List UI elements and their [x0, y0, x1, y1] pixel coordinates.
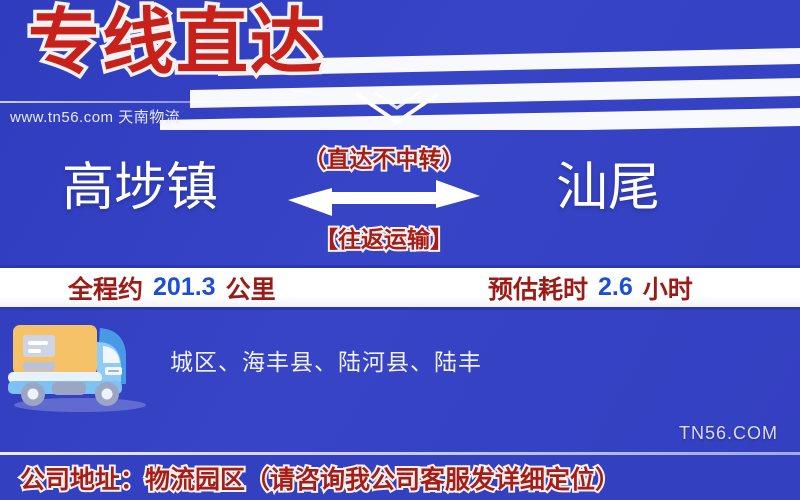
route-middle-group: （直达不中转） 【往返运输】: [284, 140, 484, 260]
origin-city: 高埗镇: [62, 152, 218, 224]
watermark: TN56.COM: [679, 423, 778, 444]
header-divider: [0, 101, 430, 103]
stats-band: 全程约 201.3 公里 预估耗时 2.6 小时: [0, 265, 800, 310]
coverage-areas: 城区、海丰县、陆河县、陆丰: [170, 343, 482, 377]
distance-label: 全程约: [68, 270, 143, 306]
distance-stat: 全程约 201.3 公里: [68, 268, 276, 307]
duration-stat: 预估耗时 2.6 小时: [488, 268, 693, 307]
page-title: 专线直达: [28, 0, 324, 88]
route-row: 高埗镇 （直达不中转） 【往返运输】 汕尾: [0, 140, 800, 260]
round-trip-badge: 【往返运输】: [284, 220, 484, 254]
distance-unit: 公里: [226, 270, 276, 306]
chevron-down-icon: [352, 88, 442, 128]
delivery-truck-icon: [4, 312, 154, 412]
footer-bar: 公司地址：物流园区（请咨询我公司客服发详细定位）: [0, 455, 800, 500]
bidirectional-arrow-icon: [284, 176, 484, 220]
company-address-text: 公司地址：物流园区（请咨询我公司客服发详细定位）: [0, 460, 620, 496]
logistics-route-banner: 专线直达 www.tn56.com 天南物流 高埗镇 （直达不中转） 【往返运输…: [0, 0, 800, 500]
duration-unit: 小时: [643, 270, 693, 306]
site-brand-line: www.tn56.com 天南物流: [10, 106, 180, 127]
duration-value: 2.6: [598, 273, 633, 302]
duration-label: 预估耗时: [488, 270, 588, 306]
distance-value: 201.3: [153, 273, 216, 302]
direct-transit-badge: （直达不中转）: [284, 140, 484, 174]
destination-city: 汕尾: [556, 152, 660, 224]
